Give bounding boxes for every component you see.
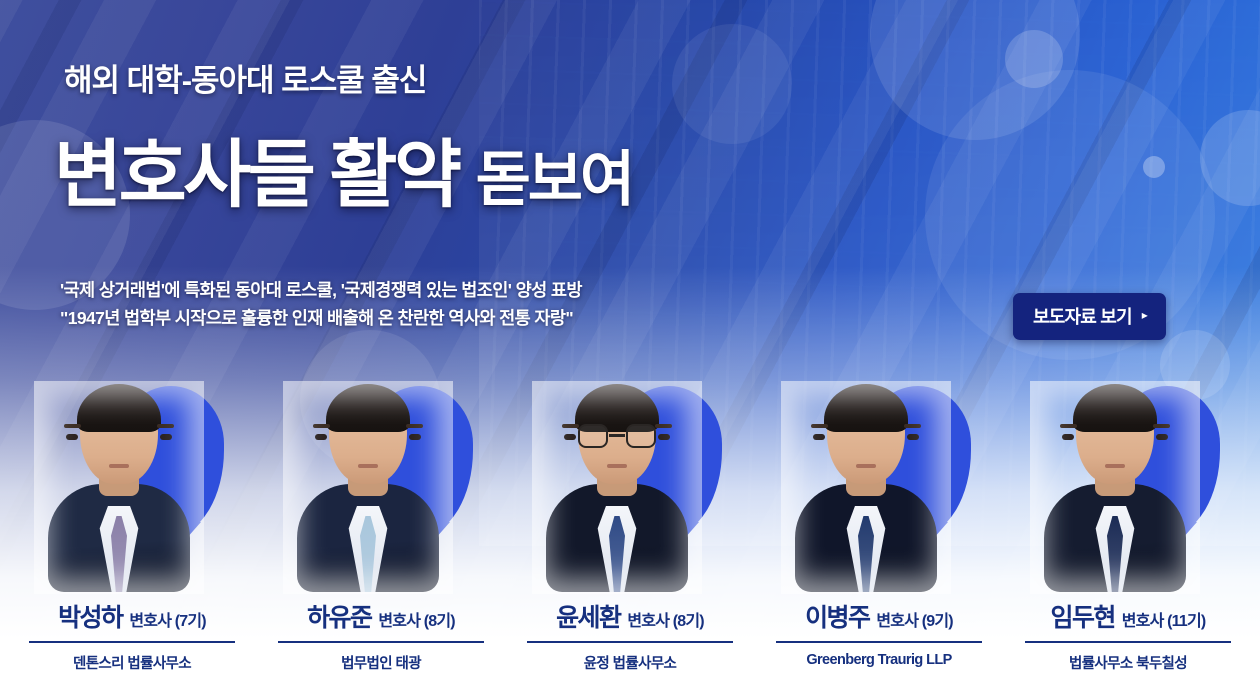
caption-divider xyxy=(1025,641,1231,643)
lawyer-firm: 법률사무소 북두칠성 xyxy=(1010,652,1246,673)
avatar-eye-right xyxy=(907,434,919,440)
portrait-zone xyxy=(761,380,997,592)
avatar-eyebrow-left xyxy=(1060,424,1077,428)
lawyer-name: 하유준 xyxy=(307,598,371,634)
lawyer-firm: 덴톤스리 법률사무소 xyxy=(14,652,250,673)
avatar-mouth xyxy=(358,464,378,468)
lawyer-caption: 하유준 변호사 (8기) 법무법인 태광 xyxy=(263,598,499,673)
eyebrow-text: 해외 대학-동아대 로스쿨 출신 xyxy=(58,64,432,102)
lawyer-role: 변호사 (9기) xyxy=(876,607,952,631)
avatar-eye-right xyxy=(658,434,670,440)
avatar-hair xyxy=(824,384,908,432)
lawyer-firm: 법무법인 태광 xyxy=(263,652,499,673)
lawyer-name: 윤세환 xyxy=(556,598,620,634)
page-title: 변호사들 활약 돋보여 xyxy=(54,136,632,214)
subheadline-line-1: '국제 상거래법'에 특화된 동아대 로스쿨, '국제경쟁력 있는 법조인' 양… xyxy=(60,276,582,304)
portrait-zone xyxy=(14,380,250,592)
lawyer-firm: Greenberg Traurig LLP xyxy=(761,652,997,668)
avatar-eyebrow-right xyxy=(1153,424,1170,428)
avatar xyxy=(293,387,443,592)
caption-divider xyxy=(278,641,484,643)
lawyer-list: 박성하 변호사 (7기) 덴톤스리 법률사무소 xyxy=(0,380,1260,700)
lawyer-card[interactable]: 이병주 변호사 (9기) Greenberg Traurig LLP xyxy=(761,380,997,686)
avatar xyxy=(1040,387,1190,592)
avatar-eye-left xyxy=(1062,434,1074,440)
bokeh-circle xyxy=(1143,156,1165,178)
portrait-zone xyxy=(1010,380,1246,592)
lawyer-name-line: 윤세환 변호사 (8기) xyxy=(512,598,748,634)
avatar-eye-right xyxy=(1156,434,1168,440)
avatar-eyebrow-left xyxy=(313,424,330,428)
lawyer-caption: 박성하 변호사 (7기) 덴톤스리 법률사무소 xyxy=(14,598,250,673)
lawyer-name: 박성하 xyxy=(58,598,122,634)
avatar-eyebrow-right xyxy=(655,424,672,428)
headline-main: 변호사들 활약 xyxy=(54,133,459,216)
press-release-button[interactable]: 보도자료 보기 ▸ xyxy=(1013,293,1166,340)
caption-divider xyxy=(527,641,733,643)
lawyer-firm: 윤정 법률사무소 xyxy=(512,652,748,673)
avatar-eye-right xyxy=(409,434,421,440)
caption-divider xyxy=(776,641,982,643)
lawyer-card[interactable]: 윤세환 변호사 (8기) 윤정 법률사무소 xyxy=(512,380,748,686)
avatar-eyebrow-left xyxy=(64,424,81,428)
avatar-hair xyxy=(326,384,410,432)
press-release-button-label: 보도자료 보기 xyxy=(1033,303,1132,329)
avatar-eye-left xyxy=(564,434,576,440)
avatar-eyebrow-right xyxy=(406,424,423,428)
avatar xyxy=(44,387,194,592)
avatar-hair xyxy=(77,384,161,432)
avatar-hair xyxy=(1073,384,1157,432)
lawyer-card[interactable]: 하유준 변호사 (8기) 법무법인 태광 xyxy=(263,380,499,686)
avatar-eye-left xyxy=(813,434,825,440)
promo-banner-card: 해외 대학-동아대 로스쿨 출신 변호사들 활약 돋보여 '국제 상거래법'에 … xyxy=(0,0,1260,700)
bokeh-circle xyxy=(672,24,792,144)
lawyer-role: 변호사 (11기) xyxy=(1122,607,1206,631)
lawyer-caption: 윤세환 변호사 (8기) 윤정 법률사무소 xyxy=(512,598,748,673)
glasses-icon xyxy=(578,424,656,450)
lawyer-role: 변호사 (7기) xyxy=(129,607,205,631)
avatar-mouth xyxy=(607,464,627,468)
subheadline: '국제 상거래법'에 특화된 동아대 로스쿨, '국제경쟁력 있는 법조인' 양… xyxy=(60,276,582,333)
subheadline-line-2: "1947년 법학부 시작으로 훌륭한 인재 배출해 온 찬란한 역사와 전통 … xyxy=(60,304,582,332)
lawyer-name-line: 박성하 변호사 (7기) xyxy=(14,598,250,634)
caption-divider xyxy=(29,641,235,643)
lawyer-name: 이병주 xyxy=(805,598,869,634)
eyebrow-wrapper: 해외 대학-동아대 로스쿨 출신 xyxy=(58,64,432,102)
avatar-eyebrow-left xyxy=(811,424,828,428)
lawyer-name-line: 임두현 변호사 (11기) xyxy=(1010,598,1246,634)
avatar-mouth xyxy=(1105,464,1125,468)
lawyer-role: 변호사 (8기) xyxy=(378,607,454,631)
avatar-eye-right xyxy=(160,434,172,440)
lawyer-name-line: 하유준 변호사 (8기) xyxy=(263,598,499,634)
headline-tail: 돋보여 xyxy=(476,146,633,213)
chevron-right-icon: ▸ xyxy=(1142,309,1148,321)
avatar-eyebrow-left xyxy=(562,424,579,428)
lawyer-card[interactable]: 임두현 변호사 (11기) 법률사무소 북두칠성 xyxy=(1010,380,1246,686)
lawyer-name-line: 이병주 변호사 (9기) xyxy=(761,598,997,634)
lawyer-card[interactable]: 박성하 변호사 (7기) 덴톤스리 법률사무소 xyxy=(14,380,250,686)
avatar-eye-left xyxy=(66,434,78,440)
lawyer-name: 임두현 xyxy=(1051,598,1115,634)
avatar-eyebrow-right xyxy=(904,424,921,428)
avatar xyxy=(542,387,692,592)
lawyer-role: 변호사 (8기) xyxy=(627,607,703,631)
lawyer-caption: 임두현 변호사 (11기) 법률사무소 북두칠성 xyxy=(1010,598,1246,673)
avatar-eye-left xyxy=(315,434,327,440)
avatar xyxy=(791,387,941,592)
portrait-zone xyxy=(263,380,499,592)
avatar-mouth xyxy=(856,464,876,468)
avatar-eyebrow-right xyxy=(157,424,174,428)
lawyer-caption: 이병주 변호사 (9기) Greenberg Traurig LLP xyxy=(761,598,997,668)
avatar-mouth xyxy=(109,464,129,468)
portrait-zone xyxy=(512,380,748,592)
